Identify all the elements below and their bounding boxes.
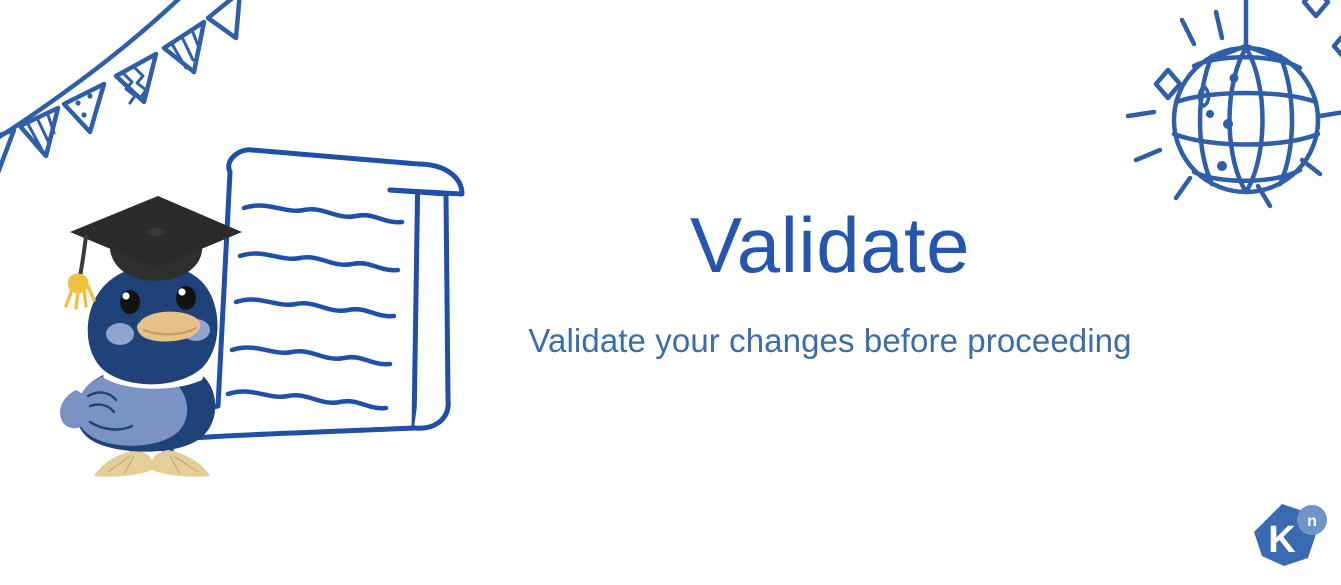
- logo-mark-letter: K: [1268, 519, 1296, 561]
- bird-collar: [103, 358, 205, 389]
- slide-canvas: Validate Validate your changes before pr…: [0, 0, 1341, 585]
- bird-body: [76, 363, 215, 452]
- graduate-bird-mascot: [52, 182, 287, 477]
- bird-beak: [137, 312, 200, 342]
- bird-belly: [77, 370, 187, 446]
- page-subtitle: Validate your changes before proceeding: [470, 321, 1190, 361]
- bird-wing: [77, 377, 142, 439]
- bird-eye-right: [176, 286, 196, 310]
- bird-cheek-right: [182, 319, 210, 341]
- kn-logo: K n: [1248, 500, 1330, 576]
- page-title: Validate: [470, 205, 1190, 287]
- bird-feet: [94, 434, 210, 477]
- diploma-scroll-icon: [178, 138, 468, 458]
- bird-cheek-left: [106, 323, 134, 345]
- logo-badge-letter: n: [1307, 513, 1317, 530]
- graduation-cap-icon: [66, 196, 242, 308]
- bird-head: [88, 265, 218, 385]
- disco-ball-icon: [1118, 0, 1341, 230]
- bunting-flags-icon: [0, 0, 242, 180]
- bird-tail: [60, 390, 90, 428]
- bird-eye-left: [120, 290, 140, 314]
- headline-block: Validate Validate your changes before pr…: [470, 205, 1190, 360]
